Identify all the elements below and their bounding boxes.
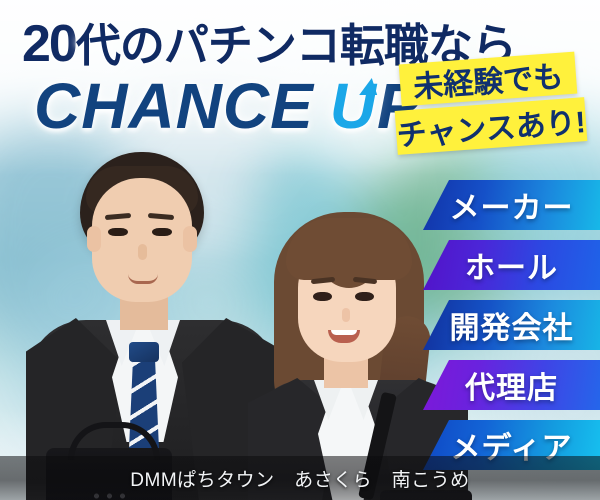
category-label: ホール xyxy=(465,243,558,287)
advertisement-banner[interactable]: 20代のパチンコ転職なら CHANCEUP 未経験でも チャンスあり! メーカー… xyxy=(0,0,600,500)
brand-logo: CHANCEUP xyxy=(34,74,421,138)
caption-text: DMMぱちタウン あさくら 南こうめ xyxy=(130,465,469,492)
category-button-development-company[interactable]: 開発会社 xyxy=(423,300,600,350)
category-button-agency[interactable]: 代理店 xyxy=(423,360,600,410)
headline-number: 20 xyxy=(22,15,76,73)
caption-bar: DMMぱちタウン あさくら 南こうめ xyxy=(0,456,600,500)
category-button-hall[interactable]: ホール xyxy=(423,240,600,290)
category-label: メーカー xyxy=(450,183,574,227)
logo-word-chance: CHANCE xyxy=(34,70,314,142)
businessman-photo xyxy=(28,152,278,500)
category-label: 代理店 xyxy=(465,363,558,407)
category-button-maker[interactable]: メーカー xyxy=(423,180,600,230)
category-label: 開発会社 xyxy=(450,303,574,347)
logo-letter-u-arrow: U xyxy=(330,74,377,138)
